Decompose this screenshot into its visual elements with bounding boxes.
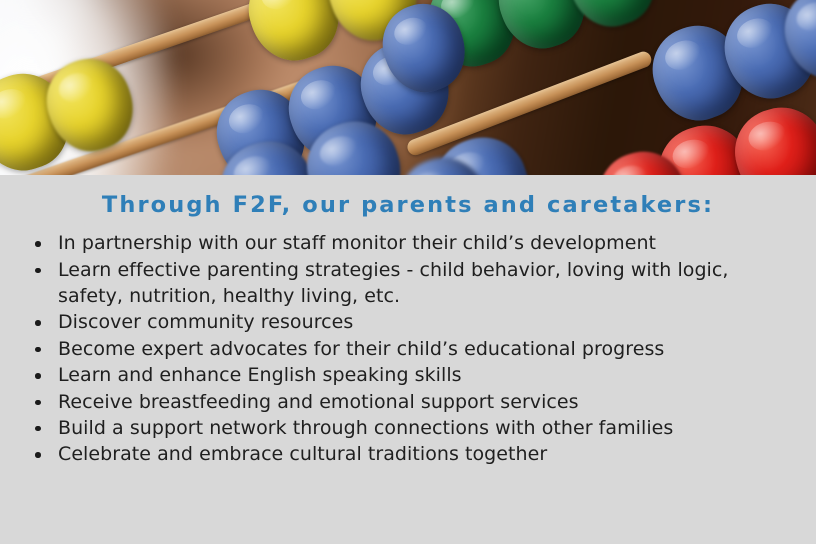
hero-abacus-photo [0, 0, 816, 175]
list-item: Discover community resources [0, 309, 816, 335]
content-panel: Through F2F, our parents and caretakers:… [0, 175, 816, 544]
benefits-list: In partnership with our staff monitor th… [0, 230, 816, 468]
list-item: In partnership with our staff monitor th… [0, 230, 816, 256]
list-item: Build a support network through connecti… [0, 415, 816, 441]
list-item: Learn and enhance English speaking skill… [0, 362, 816, 388]
list-item: Become expert advocates for their child’… [0, 336, 816, 362]
list-item: Learn effective parenting strategies - c… [0, 257, 816, 310]
list-item: Receive breastfeeding and emotional supp… [0, 389, 816, 415]
slide-canvas: Through F2F, our parents and caretakers:… [0, 0, 816, 544]
page-title: Through F2F, our parents and caretakers: [0, 175, 816, 219]
list-item: Celebrate and embrace cultural tradition… [0, 441, 816, 467]
